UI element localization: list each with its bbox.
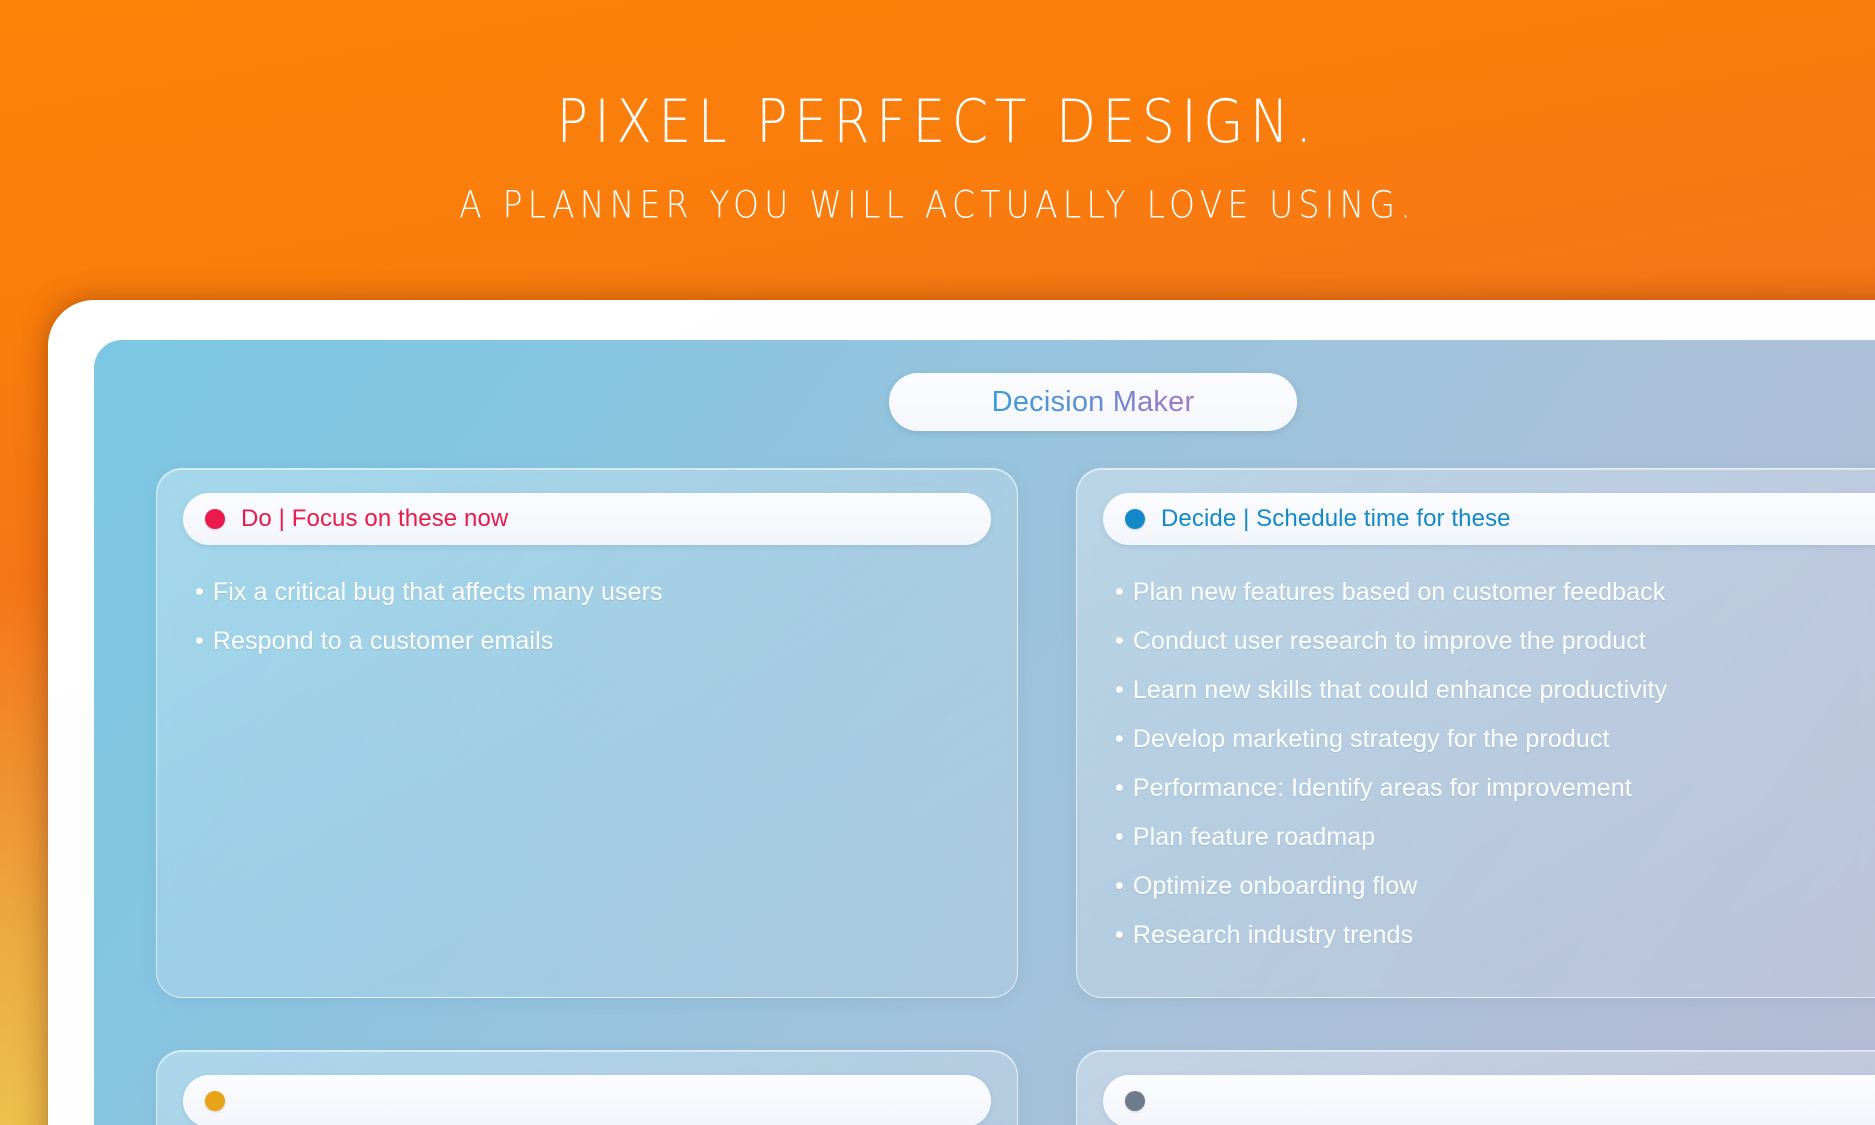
quadrant-header-do[interactable]: Do | Focus on these now	[183, 493, 991, 545]
quadrant-header-decide[interactable]: Decide | Schedule time for these	[1103, 493, 1875, 545]
task-item[interactable]: •Plan feature roadmap	[1115, 812, 1875, 861]
bullet-icon: •	[1115, 823, 1124, 851]
bullet-icon: •	[195, 578, 204, 606]
status-dot-icon	[205, 1091, 225, 1111]
task-item-label: Plan new features based on customer feed…	[1133, 578, 1666, 606]
task-item-label: Conduct user research to improve the pro…	[1133, 627, 1646, 655]
hero-section: PIXEL PERFECT DESIGN. A PLANNER YOU WILL…	[0, 92, 1875, 222]
task-item[interactable]: •Learn new skills that could enhance pro…	[1115, 665, 1875, 714]
quadrant-header-label: Decide | Schedule time for these	[1161, 505, 1511, 533]
quadrant-card-delete[interactable]	[1076, 1050, 1875, 1125]
task-item-label: Learn new skills that could enhance prod…	[1133, 676, 1667, 704]
task-item[interactable]: •Fix a critical bug that affects many us…	[195, 567, 991, 616]
bullet-icon: •	[195, 627, 204, 655]
app-title-pill[interactable]: Decision Maker	[889, 373, 1297, 431]
bullet-icon: •	[1115, 676, 1124, 704]
status-dot-icon	[205, 509, 225, 529]
task-item-label: Fix a critical bug that affects many use…	[213, 578, 663, 606]
task-list-decide: •Plan new features based on customer fee…	[1103, 567, 1875, 959]
bullet-icon: •	[1115, 872, 1124, 900]
task-item-label: Optimize onboarding flow	[1133, 872, 1418, 900]
task-item-label: Respond to a customer emails	[213, 627, 553, 655]
status-dot-icon	[1125, 1091, 1145, 1111]
quadrant-header-delete[interactable]	[1103, 1075, 1875, 1125]
quadrant-card-decide[interactable]: Decide | Schedule time for these •Plan n…	[1076, 468, 1875, 998]
task-item[interactable]: •Performance: Identify areas for improve…	[1115, 763, 1875, 812]
task-item[interactable]: •Optimize onboarding flow	[1115, 861, 1875, 910]
app-title-label: Decision Maker	[992, 386, 1195, 419]
bullet-icon: •	[1115, 921, 1124, 949]
bullet-icon: •	[1115, 627, 1124, 655]
task-item[interactable]: •Develop marketing strategy for the prod…	[1115, 714, 1875, 763]
task-item-label: Performance: Identify areas for improvem…	[1133, 774, 1632, 802]
quadrant-card-do[interactable]: Do | Focus on these now •Fix a critical …	[156, 468, 1018, 998]
task-item[interactable]: •Conduct user research to improve the pr…	[1115, 616, 1875, 665]
task-item[interactable]: •Plan new features based on customer fee…	[1115, 567, 1875, 616]
task-item[interactable]: •Respond to a customer emails	[195, 616, 991, 665]
screenshot-canvas: PIXEL PERFECT DESIGN. A PLANNER YOU WILL…	[0, 0, 1875, 1125]
device-frame: Decision Maker Do | Focus on these now •…	[48, 300, 1875, 1125]
quadrant-header-delegate[interactable]	[183, 1075, 991, 1125]
task-item-label: Plan feature roadmap	[1133, 823, 1375, 851]
bullet-icon: •	[1115, 774, 1124, 802]
page-subtitle: A PLANNER YOU WILL ACTUALLY LOVE USING.	[0, 183, 1875, 227]
app-screen: Decision Maker Do | Focus on these now •…	[94, 340, 1875, 1125]
bullet-icon: •	[1115, 578, 1124, 606]
task-item-label: Research industry trends	[1133, 921, 1413, 949]
task-item[interactable]: •Research industry trends	[1115, 910, 1875, 959]
task-list-do: •Fix a critical bug that affects many us…	[183, 567, 991, 665]
page-title: PIXEL PERFECT DESIGN.	[0, 92, 1875, 154]
status-dot-icon	[1125, 509, 1145, 529]
task-item-label: Develop marketing strategy for the produ…	[1133, 725, 1610, 753]
bullet-icon: •	[1115, 725, 1124, 753]
quadrant-header-label: Do | Focus on these now	[241, 505, 508, 533]
quadrant-card-delegate[interactable]	[156, 1050, 1018, 1125]
quadrant-grid: Do | Focus on these now •Fix a critical …	[156, 468, 1875, 1125]
